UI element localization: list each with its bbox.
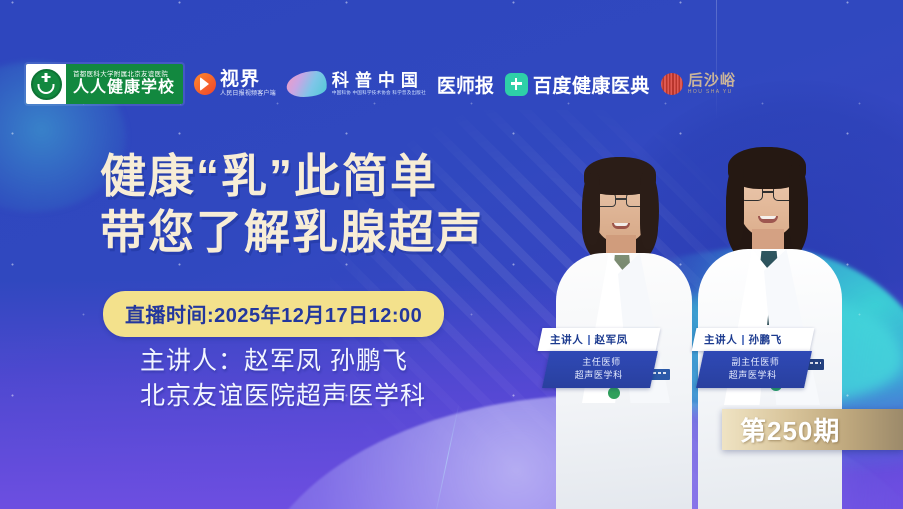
title-line-1: 健康“乳”此简单 <box>100 148 484 204</box>
presenters-text: 主讲人：赵军凤 孙鹏飞 北京友谊医院超声医学科 <box>140 344 426 414</box>
broadcast-time-badge: 直播时间:2025年12月17日12:00 <box>103 291 444 337</box>
logo-kepu-subtitle: 中国科协 中国科学技术协会 科学普及出版社 <box>332 90 426 96</box>
logo-kepu-char-3: 中 <box>378 72 395 90</box>
speaker-name: 赵军凤 <box>595 332 628 347</box>
speaker-role-label: 主讲人 <box>704 332 737 347</box>
logo-baidu-health-name: 百度健康医典 <box>533 71 650 98</box>
hospital-emblem-icon <box>26 64 66 104</box>
speaker-card-header: 主讲人 孙鹏飞 <box>692 328 815 351</box>
speaker-name: 孙鹏飞 <box>749 332 782 347</box>
presenters-line-2: 北京友谊医院超声医学科 <box>140 379 426 414</box>
logo-kepu-char-2: 普 <box>355 72 372 90</box>
logo-kepu-char-1: 科 <box>332 72 349 90</box>
logo-baidu-health: 百度健康医典 <box>505 71 650 98</box>
poster-title: 健康“乳”此简单 带您了解乳腺超声 <box>100 148 484 260</box>
speaker-card-header: 主讲人 赵军凤 <box>538 328 661 351</box>
logo-renren-health-school: 首都医科大学附属北京友谊医院 人人健康学校 <box>26 64 183 104</box>
divider <box>588 335 589 345</box>
speaker-title: 主任医师 <box>547 356 655 369</box>
speaker-department: 超声医学科 <box>545 369 653 382</box>
divider <box>742 335 743 345</box>
logo-school-name: 人人健康学校 <box>73 79 175 97</box>
medical-cross-icon <box>505 73 528 96</box>
speaker-card-zhao-junfeng: 主讲人 赵军凤 主任医师 超声医学科 <box>540 328 658 388</box>
logo-shijie: 视界 人民日报视频客户端 <box>194 70 276 99</box>
speaker-card-body: 主任医师 超声医学科 <box>542 351 658 388</box>
red-stripes-circle-icon <box>661 73 683 95</box>
presenters-line-1: 主讲人：赵军凤 孙鹏飞 <box>140 344 426 379</box>
partner-logo-bar: 首都医科大学附属北京友谊医院 人人健康学校 视界 人民日报视频客户端 科 普 中… <box>26 62 736 106</box>
coat-logo-icon <box>608 387 620 399</box>
logo-shijie-name: 视界 <box>220 70 276 90</box>
logo-houshayu-subtitle: HOU SHA YU <box>688 88 736 96</box>
logo-kepu-char-4: 国 <box>401 72 418 90</box>
speaker-role-label: 主讲人 <box>550 332 583 347</box>
logo-shijie-subtitle: 人民日报视频客户端 <box>220 90 276 99</box>
logo-school-subtitle: 首都医科大学附属北京友谊医院 <box>73 70 175 79</box>
speaker-department: 超声医学科 <box>699 369 807 382</box>
logo-yishibao: 医师报 <box>437 71 494 98</box>
speaker-card-body: 副主任医师 超声医学科 <box>696 351 812 388</box>
speaker-title: 副主任医师 <box>701 356 809 369</box>
episode-badge: 第250期 <box>722 409 903 450</box>
wing-gradient-icon <box>285 71 328 97</box>
episode-label: 第250期 <box>740 411 840 448</box>
play-circle-icon <box>194 73 216 95</box>
logo-kepu-china: 科 普 中 国 中国科协 中国科学技术协会 科学普及出版社 <box>287 71 426 97</box>
logo-houshayu-name: 后沙峪 <box>688 73 736 88</box>
logo-houshayu: 后沙峪 HOU SHA YU <box>661 73 736 96</box>
doctor-photo-sun-pengfei <box>694 137 846 509</box>
title-line-2: 带您了解乳腺超声 <box>100 204 484 260</box>
speaker-card-sun-pengfei: 主讲人 孙鹏飞 副主任医师 超声医学科 <box>694 328 812 388</box>
livestream-poster: 首都医科大学附属北京友谊医院 人人健康学校 视界 人民日报视频客户端 科 普 中… <box>0 0 903 509</box>
